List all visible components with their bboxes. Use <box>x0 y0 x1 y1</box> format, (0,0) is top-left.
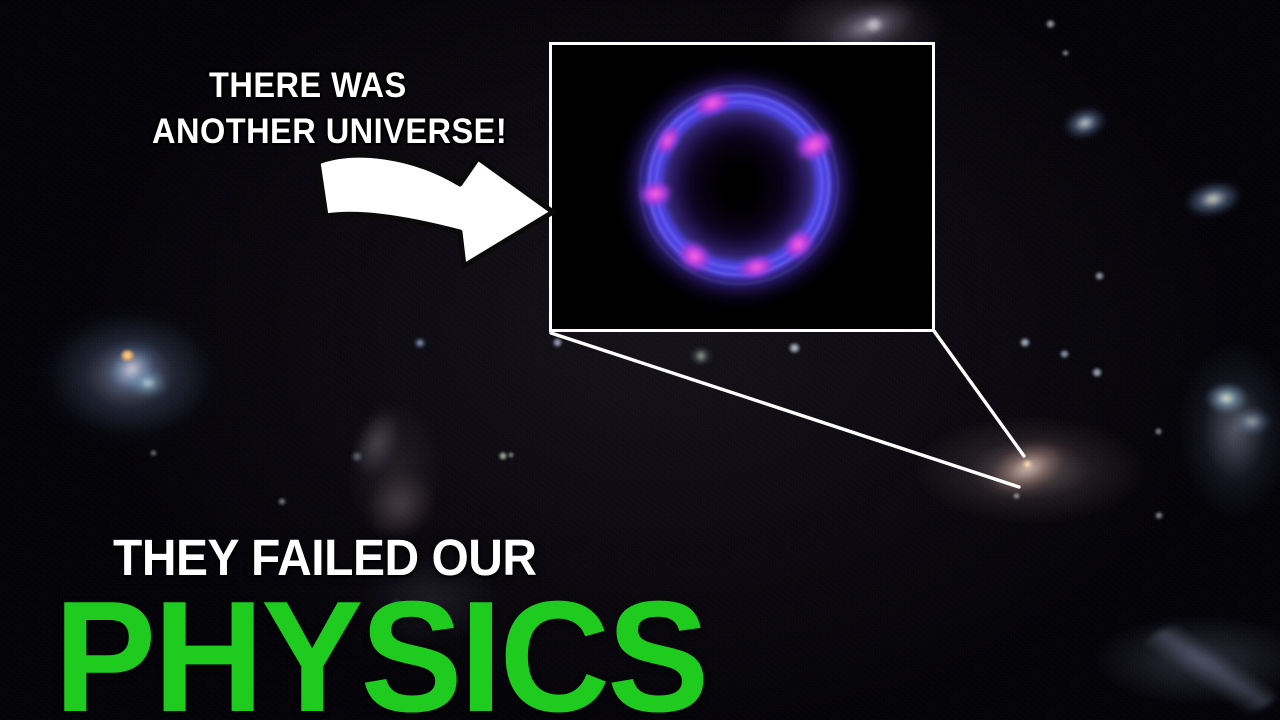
headline-big-line: PHYSICS <box>54 578 706 720</box>
callout-line-upper <box>934 331 1024 456</box>
caption-line-1: THERE WAS <box>209 66 407 106</box>
curved-arrow-right-icon <box>310 140 560 275</box>
einstein-ring-graphic <box>614 60 864 310</box>
ring-dark-center <box>683 122 795 248</box>
callout-line-lower <box>551 333 1019 487</box>
screenshot-canvas: THERE WAS ANOTHER UNIVERSE! THEY FAILED … <box>0 0 1280 720</box>
einstein-ring-inset[interactable] <box>549 42 935 332</box>
